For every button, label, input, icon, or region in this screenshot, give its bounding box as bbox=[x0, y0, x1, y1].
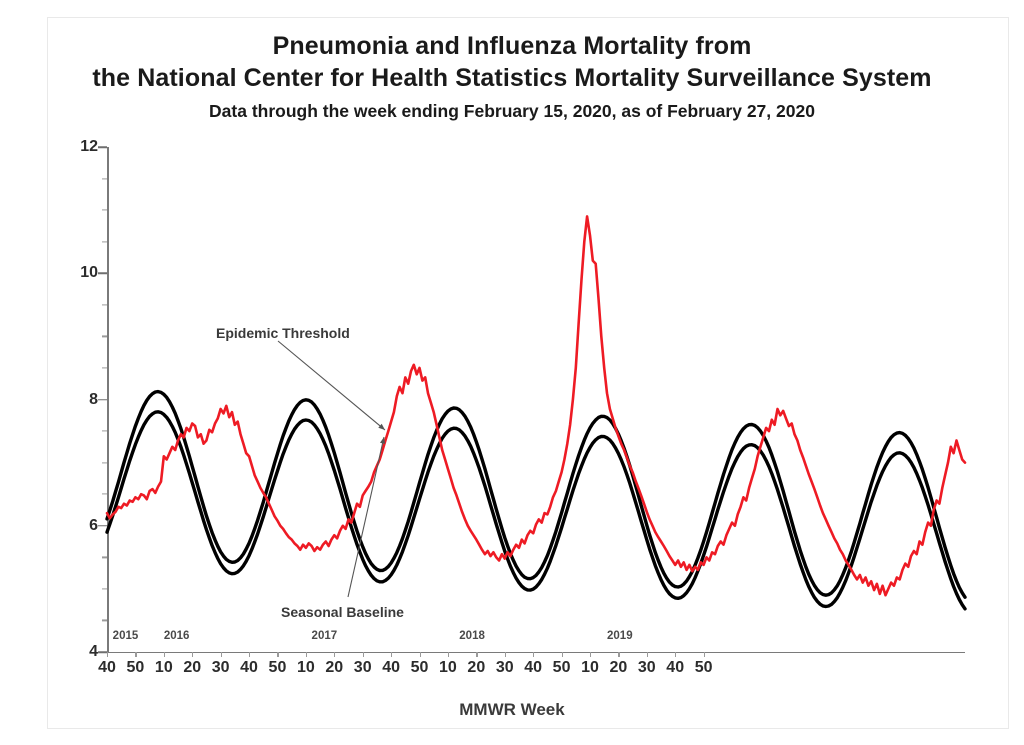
leader-line-epidemic-threshold bbox=[278, 341, 385, 430]
annotation-label-seasonal-baseline: Seasonal Baseline bbox=[281, 604, 404, 620]
leader-line-seasonal-baseline bbox=[348, 437, 384, 597]
annotation-label-epidemic-threshold: Epidemic Threshold bbox=[216, 325, 350, 341]
leader-arrowhead-seasonal-baseline bbox=[380, 437, 385, 444]
annotation-leader-lines bbox=[0, 0, 1024, 745]
